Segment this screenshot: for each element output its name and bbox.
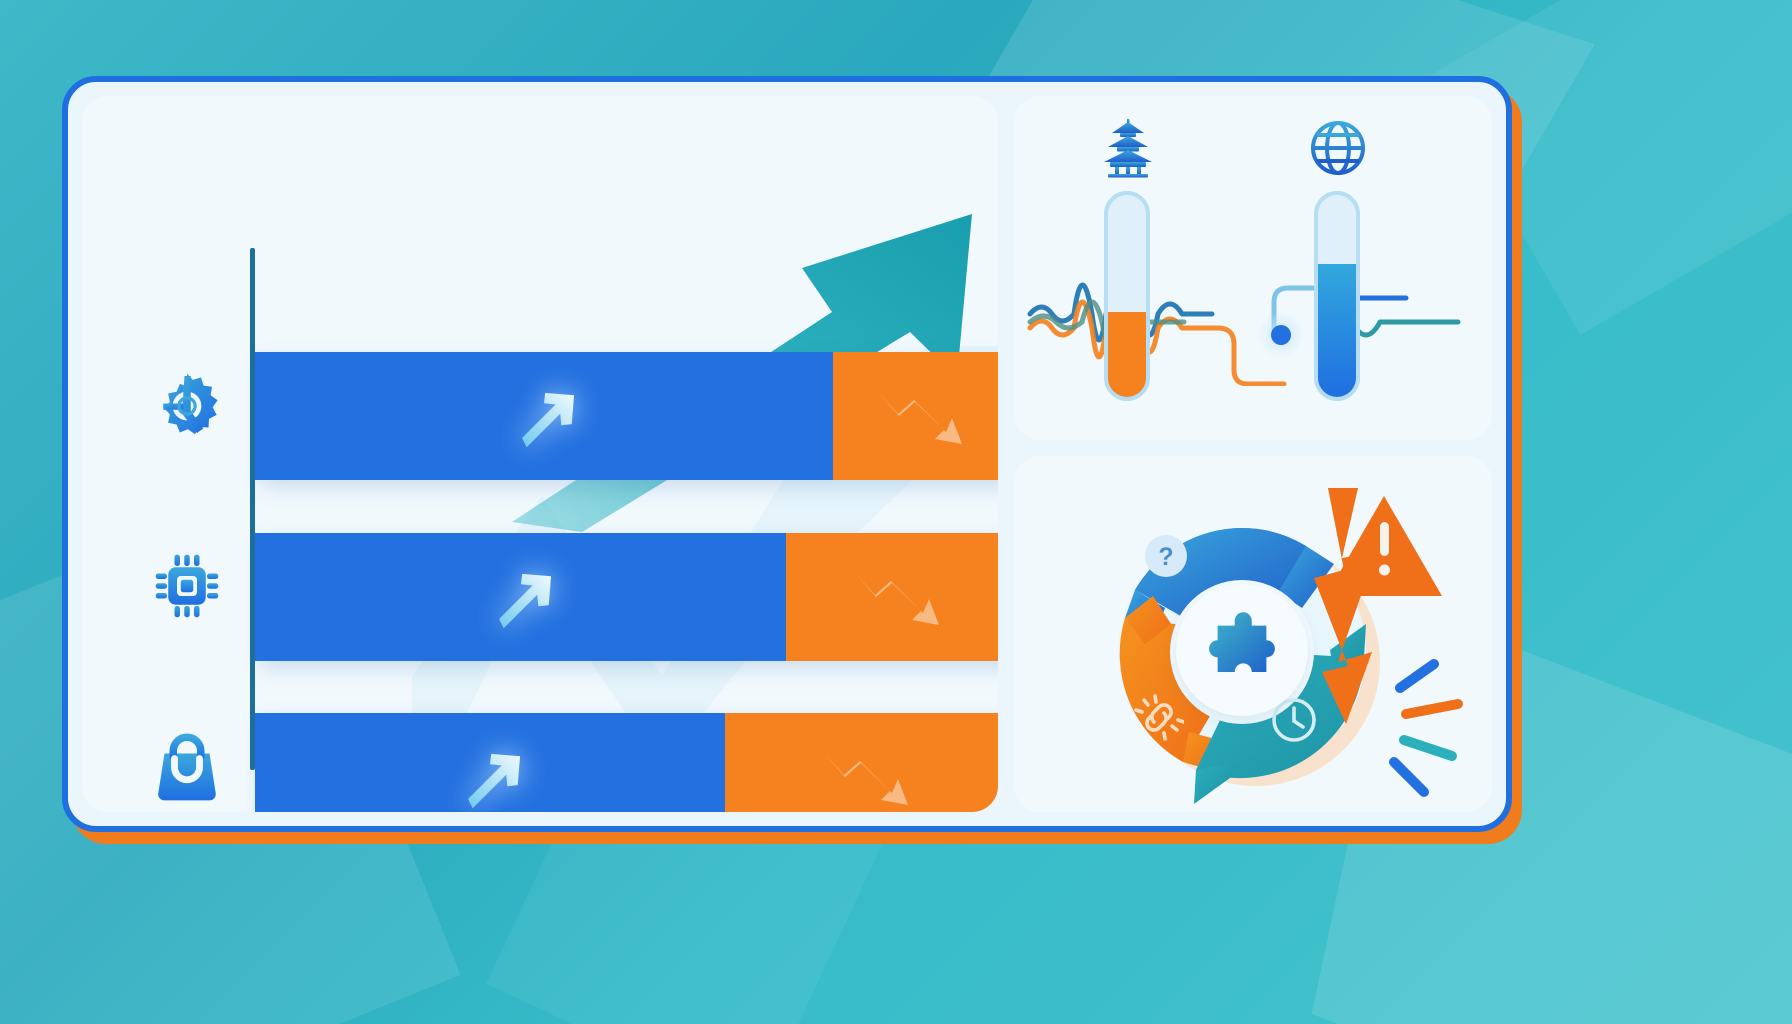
- thermometer-comparison-panel: [1014, 96, 1492, 440]
- table-row[interactable]: [255, 713, 998, 812]
- category-icon-retail: [144, 723, 230, 809]
- broken-link-icon: [1134, 692, 1184, 742]
- pagoda-icon: [1096, 116, 1160, 180]
- bar-chart-panel: [82, 96, 998, 812]
- arrow-up-right-icon: [484, 560, 558, 634]
- arrow-zigzag-down-icon: [874, 382, 984, 450]
- bar-segment-loss[interactable]: [786, 533, 998, 661]
- right-column: ?: [1014, 96, 1492, 812]
- gear-wrench-icon: [147, 366, 227, 446]
- arrow-up-right-icon: [453, 740, 527, 812]
- impact-burst: [1394, 664, 1458, 792]
- link-node[interactable]: [1271, 325, 1291, 345]
- infographic-frame: ?: [62, 76, 1512, 832]
- bar-segment-gain[interactable]: [255, 533, 786, 661]
- table-row[interactable]: [255, 533, 998, 661]
- thermometer-gauge-globe[interactable]: [1314, 191, 1360, 401]
- question-mark-icon: ?: [1144, 534, 1188, 578]
- ecg-waveform-group: [1024, 236, 1464, 386]
- shopping-bag-icon: [147, 726, 227, 806]
- thermometer-gauge-pagoda[interactable]: [1104, 191, 1150, 401]
- pagoda-icon-wrap: [1096, 116, 1160, 180]
- bar-segment-loss[interactable]: [725, 713, 998, 812]
- bar-segment-gain[interactable]: [255, 713, 725, 812]
- arrow-up-right-icon: [507, 379, 581, 453]
- question-mark-icon-wrap: ?: [1144, 534, 1188, 578]
- arrow-zigzag-down-icon: [820, 743, 930, 811]
- disruption-cycle-panel: ?: [1014, 456, 1492, 812]
- bar-segment-gain[interactable]: [255, 352, 833, 480]
- globe-icon-wrap: [1306, 116, 1370, 180]
- svg-text:?: ?: [1158, 543, 1173, 571]
- zigzag-arrow-down-icon: [1314, 488, 1376, 724]
- chart-axis: [250, 248, 255, 770]
- table-row[interactable]: [255, 352, 998, 480]
- cpu-chip-icon: [147, 546, 227, 626]
- infographic-canvas: ?: [0, 0, 1792, 1024]
- impact-group: [1264, 474, 1492, 804]
- arrow-zigzag-down-icon: [851, 563, 961, 631]
- category-icon-manufacturing: [144, 363, 230, 449]
- gauge-fill-orange: [1108, 312, 1146, 397]
- bar-segment-loss[interactable]: [833, 352, 999, 480]
- category-icon-semiconductor: [144, 543, 230, 629]
- gauge-fill-blue: [1318, 264, 1356, 397]
- broken-link-icon-wrap: [1134, 692, 1184, 742]
- globe-icon: [1306, 116, 1370, 180]
